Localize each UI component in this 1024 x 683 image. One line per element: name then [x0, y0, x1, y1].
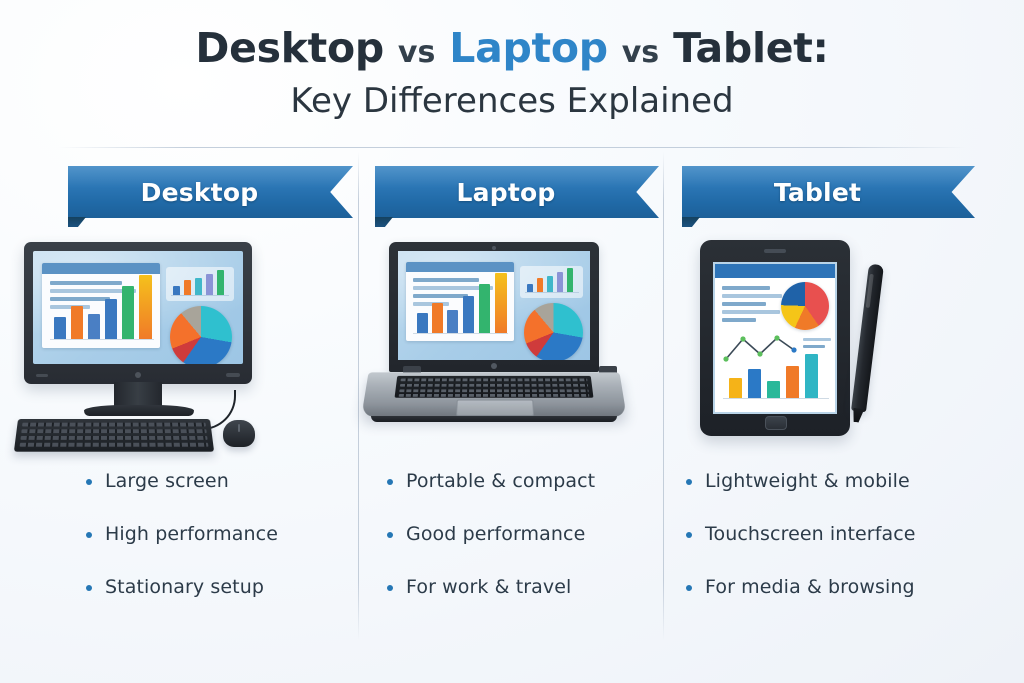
ribbon-label-desktop: Desktop [68, 166, 353, 218]
keyboard-row [399, 394, 590, 397]
ribbon-fold-tail [68, 217, 86, 227]
card-title-bar [406, 262, 514, 272]
chart-bar [805, 354, 818, 398]
title-vs-1: vs [398, 35, 435, 70]
title-tablet-word: Tablet: [673, 24, 828, 72]
ribbon-fold-tail [375, 217, 393, 227]
list-item: Good performance [387, 523, 663, 547]
tablet-home-button[interactable] [765, 416, 787, 430]
chart-bar [767, 381, 780, 398]
chart-bar [567, 268, 573, 292]
keyboard-row [399, 389, 589, 392]
card-title-bar [42, 263, 160, 274]
desktop-computer-illustration [8, 240, 358, 455]
chart-axis [525, 292, 579, 293]
title-line-1: Desktop vs Laptop vs Tablet: [0, 24, 1024, 72]
laptop-screen [398, 251, 590, 360]
list-item: Portable & compact [387, 470, 663, 494]
laptop-indicator-led [491, 363, 497, 369]
card-text-line [413, 302, 449, 306]
ribbon-banner-tablet: Tablet [682, 166, 975, 218]
webcam-icon [492, 246, 496, 250]
chart-bar [122, 286, 134, 339]
card-text-line [413, 294, 468, 298]
list-item: High performance [86, 523, 358, 547]
card-text-line [50, 305, 90, 309]
laptop-front-edge [371, 416, 617, 422]
chart-axis [171, 295, 229, 296]
monitor-power-led [135, 372, 141, 378]
screen-report-card [42, 263, 160, 348]
bullet-dot-icon [86, 479, 92, 485]
list-item-label: Lightweight & mobile [705, 470, 910, 494]
chart-line [723, 332, 797, 364]
bullet-dot-icon [387, 479, 393, 485]
chart-pie [170, 306, 232, 364]
list-item-label: Touchscreen interface [705, 523, 916, 547]
screen-artwork [398, 251, 590, 360]
screen-mini-chart-panel [520, 266, 583, 298]
chart-bar [184, 280, 191, 295]
card-text-line [803, 338, 831, 341]
list-item-label: Good performance [406, 523, 585, 547]
bullet-dot-icon [387, 585, 393, 591]
chart-bar [463, 296, 474, 333]
chart-pie [524, 303, 583, 360]
column-desktop: Desktop [8, 152, 358, 652]
card-text-line [722, 294, 782, 298]
laptop-trackpad [456, 400, 534, 416]
ribbon-fold-tail [682, 217, 700, 227]
bullet-dot-icon [686, 585, 692, 591]
bullet-list-desktop: Large screen High performance Stationary… [8, 470, 358, 628]
chart-bar [729, 378, 742, 398]
list-item: For work & travel [387, 576, 663, 600]
ribbon-label-tablet: Tablet [682, 166, 975, 218]
screen-artwork [715, 264, 835, 412]
card-text-line [722, 318, 756, 322]
title-laptop-word: Laptop [449, 24, 607, 72]
chart-pie [781, 282, 829, 330]
keyboard-row [20, 436, 207, 440]
card-text-line [50, 297, 110, 301]
keyboard-row [21, 429, 207, 433]
tablet-speaker [764, 249, 786, 253]
card-text-line [722, 302, 766, 306]
monitor-icon [24, 242, 252, 384]
card-title-bar [715, 264, 835, 278]
chart-bar [432, 303, 443, 333]
chart-bar [547, 276, 553, 292]
laptop-base [361, 372, 626, 417]
tablet-device-illustration [664, 240, 1016, 455]
chart-axis [413, 333, 508, 334]
screen-mini-chart-panel [166, 267, 234, 301]
chart-bar [447, 310, 458, 333]
chart-bar [786, 366, 799, 398]
infographic-canvas: Desktop vs Laptop vs Tablet: Key Differe… [0, 0, 1024, 683]
monitor-controls [226, 373, 240, 377]
chart-bar [527, 284, 533, 292]
keyboard-row [22, 423, 206, 427]
list-item-label: High performance [105, 523, 278, 547]
card-text-line [722, 310, 780, 314]
card-text-line [50, 281, 122, 285]
chart-bar [173, 286, 180, 295]
chart-axis [723, 398, 829, 399]
card-text-line [803, 345, 825, 348]
bullet-dot-icon [86, 532, 92, 538]
laptop-lid [389, 242, 599, 372]
list-item: Stationary setup [86, 576, 358, 600]
monitor-stand-neck [114, 382, 162, 407]
monitor-screen [33, 251, 243, 364]
list-item-label: Large screen [105, 470, 229, 494]
mouse-icon [223, 420, 255, 447]
chart-bar [54, 317, 66, 339]
page-title: Desktop vs Laptop vs Tablet: Key Differe… [0, 24, 1024, 122]
header-divider [58, 147, 966, 148]
list-item-label: Stationary setup [105, 576, 264, 600]
title-vs-2: vs [622, 35, 659, 70]
keyboard-icon [14, 419, 214, 452]
chart-axis [50, 339, 154, 340]
chart-bar [105, 299, 117, 339]
list-item-label: For work & travel [406, 576, 571, 600]
laptop-computer-illustration [359, 240, 663, 455]
bullet-dot-icon [387, 532, 393, 538]
chart-bar [88, 314, 100, 339]
keyboard-row [401, 379, 588, 382]
bullet-dot-icon [686, 532, 692, 538]
tablet-body [700, 240, 850, 436]
list-item-label: For media & browsing [705, 576, 915, 600]
chart-bar [417, 313, 428, 333]
column-tablet: Tablet [664, 152, 1016, 652]
title-desktop-word: Desktop [195, 24, 384, 72]
laptop-keyboard [395, 376, 594, 398]
monitor-brand-mark [36, 374, 48, 377]
bullet-list-tablet: Lightweight & mobile Touchscreen interfa… [664, 470, 1016, 628]
chart-bar [537, 278, 543, 292]
title-subtitle: Key Differences Explained [0, 81, 1024, 122]
chart-bar [195, 278, 202, 295]
bullet-list-laptop: Portable & compact Good performance For … [359, 470, 663, 628]
list-item: Large screen [86, 470, 358, 494]
card-text-line [413, 278, 479, 282]
screen-report-card [406, 262, 514, 341]
ribbon-label-laptop: Laptop [375, 166, 659, 218]
column-laptop: Laptop [359, 152, 663, 652]
bullet-dot-icon [686, 479, 692, 485]
card-text-line [722, 286, 770, 290]
chart-bar [71, 306, 83, 339]
list-item: Lightweight & mobile [686, 470, 1016, 494]
chart-bar [139, 275, 152, 339]
list-item-label: Portable & compact [406, 470, 595, 494]
stylus-pen-icon [851, 264, 884, 413]
chart-bar [479, 284, 490, 333]
bullet-dot-icon [86, 585, 92, 591]
keyboard-row [20, 443, 209, 447]
chart-bar [495, 273, 507, 333]
screen-artwork [33, 251, 243, 364]
keyboard-row [400, 384, 588, 387]
chart-bar [206, 274, 213, 295]
list-item: Touchscreen interface [686, 523, 1016, 547]
list-item: For media & browsing [686, 576, 1016, 600]
tablet-screen [713, 262, 837, 414]
chart-bar [557, 272, 563, 292]
chart-bar [217, 270, 224, 295]
ribbon-banner-laptop: Laptop [375, 166, 659, 218]
chart-bar [748, 369, 761, 398]
ribbon-banner-desktop: Desktop [68, 166, 353, 218]
